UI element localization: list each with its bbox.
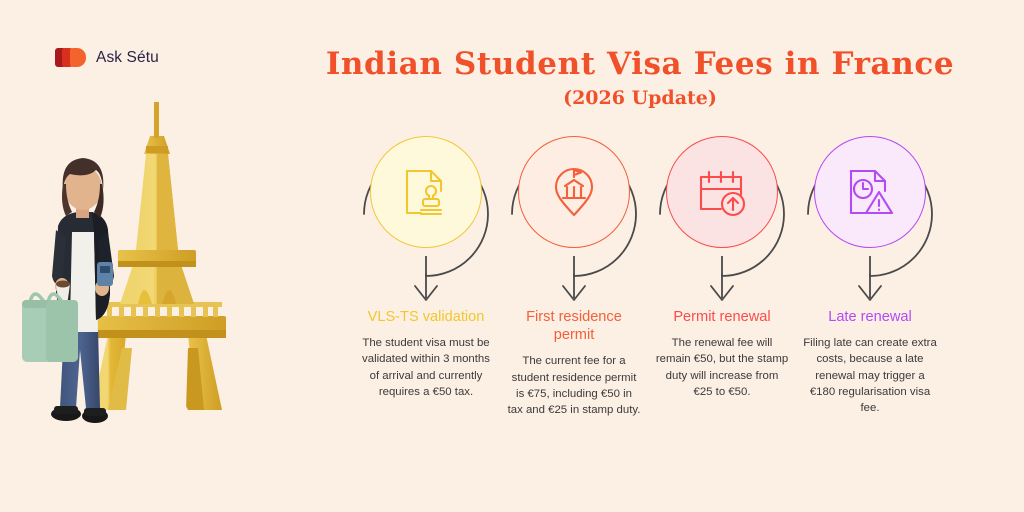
brand-name: Ask Sétu <box>96 49 159 67</box>
header: Indian Student Visa Fees in France (2026… <box>300 46 980 109</box>
visa-fee-steps: VLS-TS validation The student visa must … <box>352 128 944 488</box>
step-heading: First residence permit <box>500 308 648 344</box>
page-title: Indian Student Visa Fees in France <box>300 46 980 82</box>
calendar-renewal-arrow-icon <box>666 136 778 248</box>
step-heading: Permit renewal <box>648 308 796 326</box>
document-stamp-icon <box>370 136 482 248</box>
step-icon-zone <box>500 128 648 308</box>
step-body: The student visa must be validated withi… <box>352 335 500 400</box>
location-pin-government-building-icon <box>518 136 630 248</box>
step-body: The current fee for a student residence … <box>500 353 648 418</box>
woman-with-eiffel-tower-illustration <box>0 80 330 450</box>
step-first-residence-permit: First residence permit The current fee f… <box>500 128 648 488</box>
step-heading: VLS-TS validation <box>352 308 500 326</box>
step-icon-zone <box>648 128 796 308</box>
step-vls-ts-validation: VLS-TS validation The student visa must … <box>352 128 500 488</box>
step-body: The renewal fee will remain €50, but the… <box>648 335 796 400</box>
step-permit-renewal: Permit renewal The renewal fee will rema… <box>648 128 796 488</box>
document-clock-warning-icon <box>814 136 926 248</box>
step-heading: Late renewal <box>796 308 944 326</box>
page-subtitle: (2026 Update) <box>300 87 980 109</box>
step-body: Filing late can create extra costs, beca… <box>796 335 944 416</box>
step-late-renewal: Late renewal Filing late can create extr… <box>796 128 944 488</box>
ask-setu-logo-icon <box>55 48 89 67</box>
step-icon-zone <box>352 128 500 308</box>
step-icon-zone <box>796 128 944 308</box>
brand-logo: Ask Sétu <box>55 48 159 67</box>
